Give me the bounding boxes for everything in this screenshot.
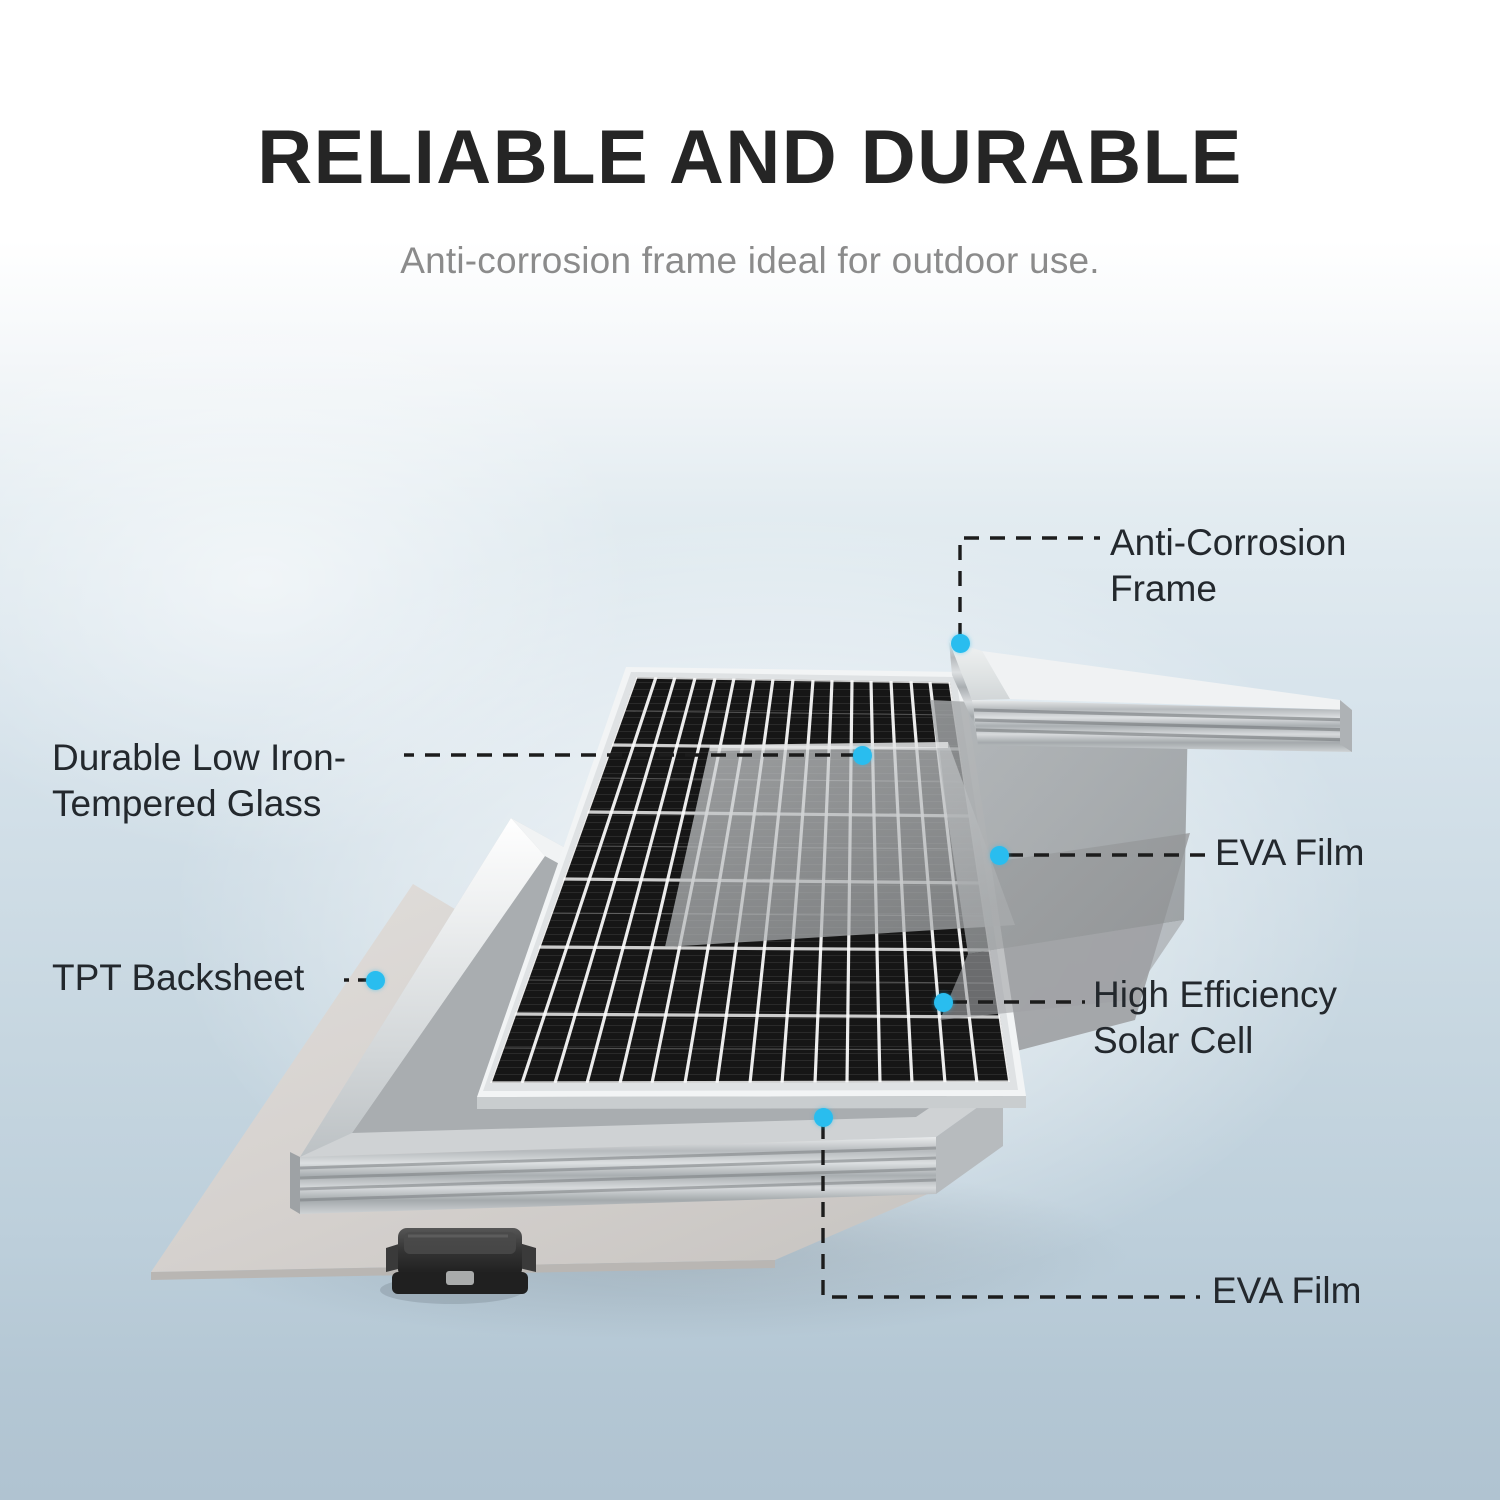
marker-dot-solar-cell (934, 993, 953, 1012)
junction-box (380, 1228, 536, 1304)
marker-dot-tempered-glass (853, 746, 872, 765)
callout-label-eva-film-upper: EVA Film (1215, 830, 1364, 876)
callout-label-tempered-glass: Durable Low Iron- Tempered Glass (52, 735, 346, 827)
callout-label-solar-cell: High Efficiency Solar Cell (1093, 972, 1337, 1064)
header-block: RELIABLE AND DURABLE Anti-corrosion fram… (0, 118, 1500, 282)
marker-dot-tpt-backsheet (366, 971, 385, 990)
junction-box-latch (446, 1271, 474, 1285)
marker-dot-eva-film-upper (990, 846, 1009, 865)
product-feature-slide: RELIABLE AND DURABLE Anti-corrosion fram… (0, 0, 1500, 1500)
callout-label-anti-corrosion-frame: Anti-Corrosion Frame (1110, 520, 1346, 612)
marker-dot-eva-film-lower (814, 1108, 833, 1127)
page-subtitle: Anti-corrosion frame ideal for outdoor u… (0, 240, 1500, 282)
acf-long-leg-top (982, 651, 1352, 710)
callout-label-tpt-backsheet: TPT Backsheet (52, 955, 304, 1001)
panel-near-edge (477, 1096, 1026, 1109)
marker-dot-anti-corrosion-frame (951, 634, 970, 653)
page-title: RELIABLE AND DURABLE (0, 118, 1500, 198)
acf-end-cap (1340, 700, 1352, 752)
frame-left-endcap (290, 1152, 300, 1214)
anti-corrosion-frame-piece (949, 641, 1352, 752)
callout-label-eva-film-lower: EVA Film (1212, 1268, 1361, 1314)
